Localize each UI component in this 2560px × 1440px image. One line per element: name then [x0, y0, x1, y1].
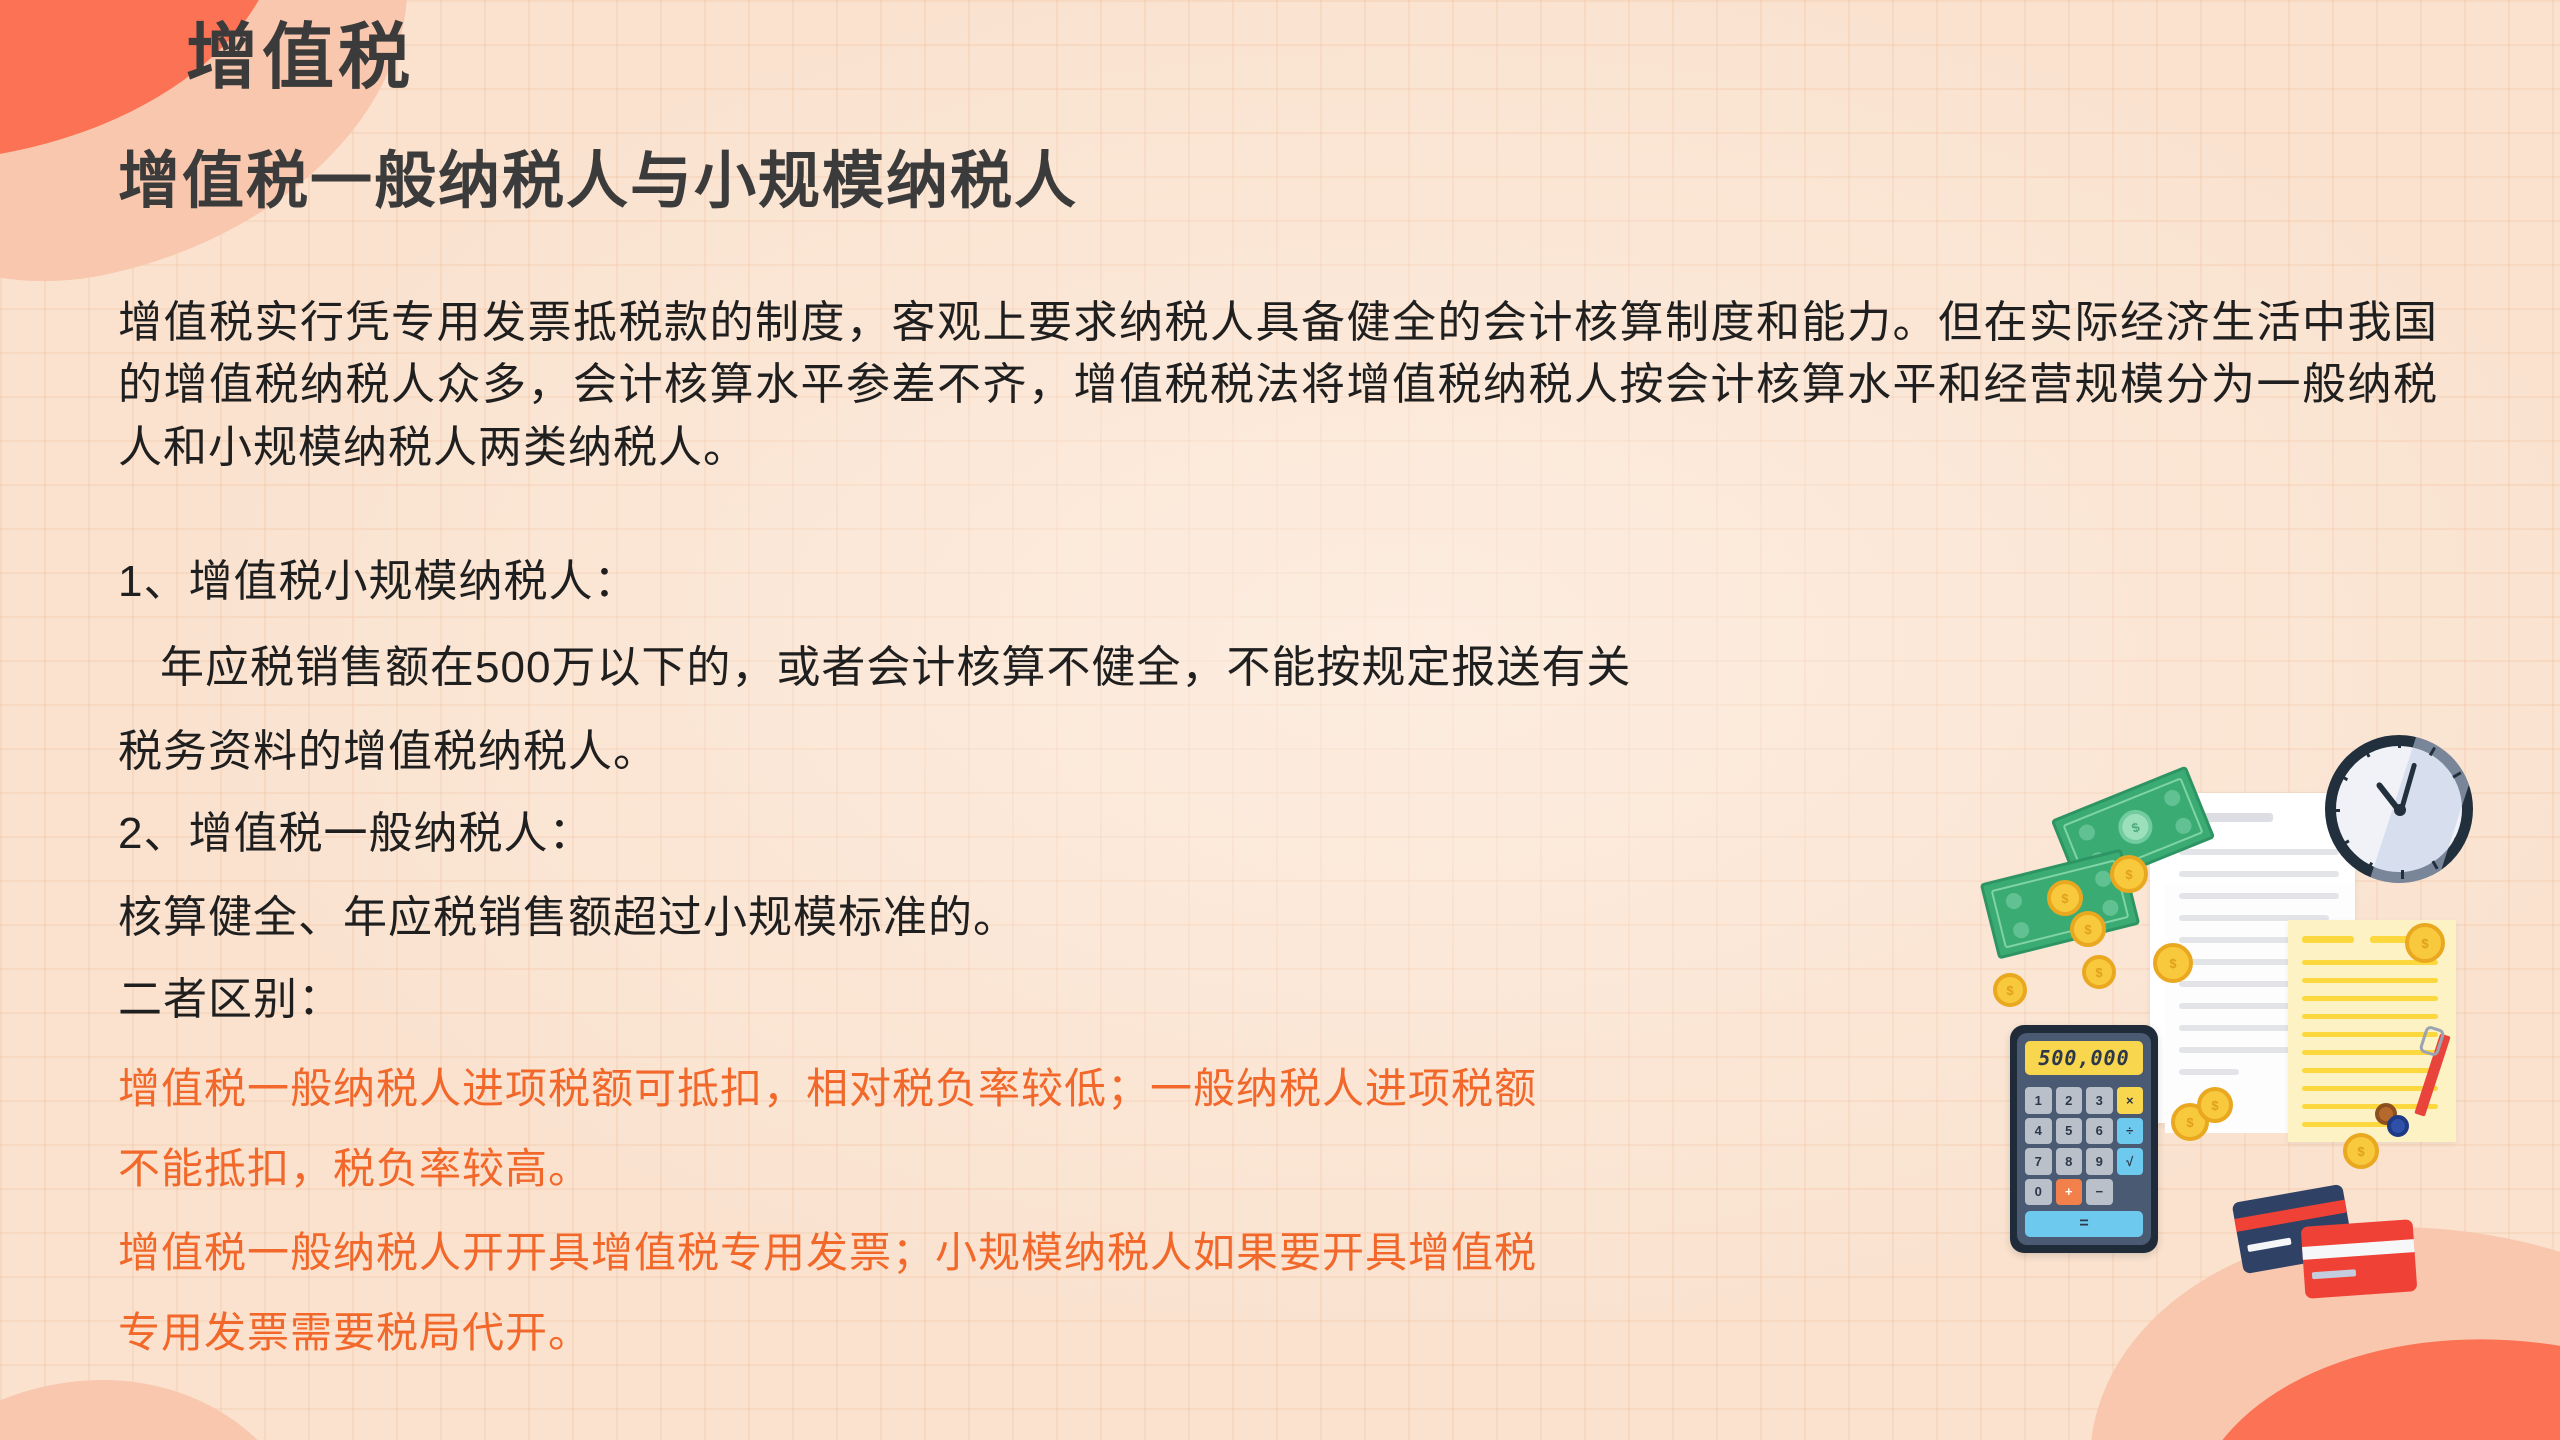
coin-icon: $: [2082, 955, 2116, 989]
calc-key-1: 1: [2025, 1087, 2052, 1114]
coin-icon: $: [2070, 911, 2106, 947]
calc-key-plus: +: [2056, 1179, 2083, 1206]
calc-key-8: 8: [2056, 1148, 2083, 1175]
list-item-1-heading: 1、增值税小规模纳税人：: [118, 560, 638, 604]
page-title: 增值税: [186, 22, 414, 94]
list-item-2-heading: 2、增值税一般纳税人：: [118, 812, 593, 856]
coin-icon: $: [2153, 943, 2193, 983]
coin-icon: $: [2110, 855, 2148, 893]
calculator-display-value: 500,000: [2038, 1046, 2129, 1070]
list-item-1-line-2: 税务资料的增值税纳税人。: [118, 730, 658, 774]
calculator-display: 500,000: [2025, 1041, 2143, 1075]
slide-canvas: 增值税 增值税一般纳税人与小规模纳税人 增值税实行凭专用发票抵税款的制度，客观上…: [0, 0, 2560, 1440]
calc-key-0: 0: [2025, 1179, 2052, 1206]
calc-key-7: 7: [2025, 1148, 2052, 1175]
coin-icon: $: [1993, 973, 2027, 1007]
calc-key-3: 3: [2086, 1087, 2113, 1114]
credit-card-icon-2: [2301, 1219, 2418, 1299]
stamp-seal-icon-2: [2387, 1115, 2409, 1137]
calc-key-5: 5: [2056, 1118, 2083, 1145]
calc-key-divide: ÷: [2117, 1118, 2144, 1145]
difference-text-block: 增值税一般纳税人进项税额可抵扣，相对税负率较低；一般纳税人进项税额 不能抵扣，税…: [118, 1068, 1537, 1392]
intro-paragraph: 增值税实行凭专用发票抵税款的制度，客观上要求纳税人具备健全的会计核算制度和能力。…: [118, 292, 2438, 479]
coin-icon: $: [2343, 1133, 2379, 1169]
coin-icon: $: [2197, 1087, 2233, 1123]
calc-key-4: 4: [2025, 1118, 2052, 1145]
finance-illustration: $ $ $ $ $ $ $ $ $ $ $ 500,000: [1975, 715, 2515, 1315]
difference-line-3: 增值税一般纳税人开开具增值税专用发票；小规模纳税人如果要开具增值税: [118, 1232, 1537, 1274]
difference-heading: 二者区别：: [118, 978, 343, 1022]
calc-key-sqrt: √: [2117, 1148, 2144, 1175]
calc-key-6: 6: [2086, 1118, 2113, 1145]
intro-paragraph-block: 增值税实行凭专用发票抵税款的制度，客观上要求纳税人具备健全的会计核算制度和能力。…: [118, 292, 2438, 493]
difference-line-4: 专用发票需要税局代开。: [118, 1312, 1537, 1354]
calc-key-multiply: ×: [2117, 1087, 2144, 1114]
calc-key-2: 2: [2056, 1087, 2083, 1114]
coin-icon: $: [2047, 880, 2083, 916]
list-item-2-line-1: 核算健全、年应税销售额超过小规模标准的。: [118, 896, 1018, 940]
clock-center-pin: [2394, 804, 2406, 816]
difference-line-1: 增值税一般纳税人进项税额可抵扣，相对税负率较低；一般纳税人进项税额: [118, 1068, 1537, 1110]
calc-key-minus: −: [2086, 1179, 2113, 1206]
list-item-1-line-1: 年应税销售额在500万以下的，或者会计核算不健全，不能按规定报送有关: [160, 646, 1631, 690]
coin-icon: $: [2405, 923, 2445, 963]
page-subtitle: 增值税一般纳税人与小规模纳税人: [118, 148, 1078, 216]
calc-key-9: 9: [2086, 1148, 2113, 1175]
difference-line-2: 不能抵扣，税负率较高。: [118, 1148, 1537, 1190]
calc-key-equals: =: [2025, 1211, 2143, 1237]
calculator-keypad: 1 2 3 × 4 5 6 ÷ 7 8 9 √ 0 + −: [2025, 1087, 2143, 1205]
slide-content: 增值税 增值税一般纳税人与小规模纳税人 增值税实行凭专用发票抵税款的制度，客观上…: [0, 0, 2560, 1440]
